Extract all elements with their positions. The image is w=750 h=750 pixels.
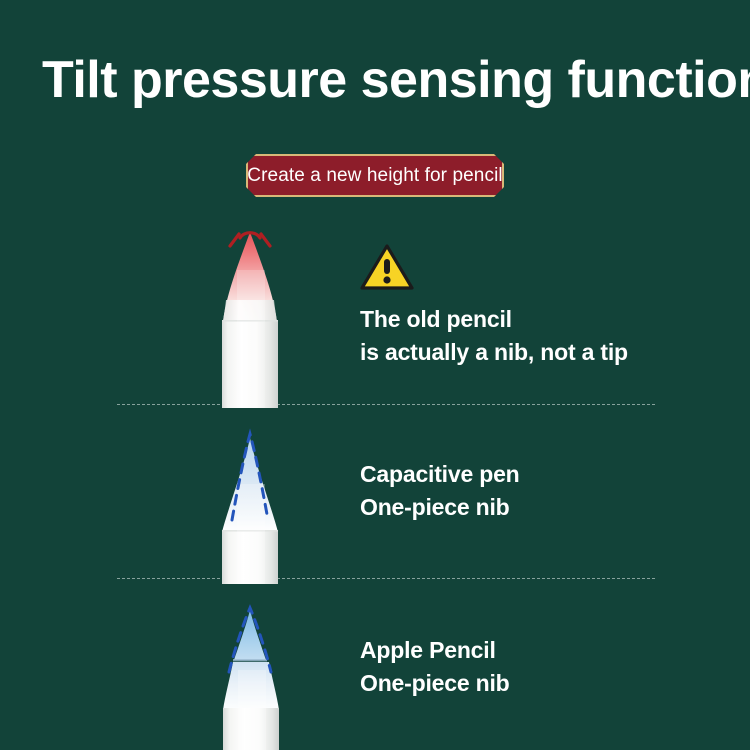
infographic-canvas: Tilt pressure sensing function Create a …	[0, 0, 750, 750]
info-line-1: The old pencil	[360, 303, 710, 336]
info-block-apple-pencil: Apple Pencil One-piece nib	[360, 634, 710, 699]
subtitle-badge	[246, 154, 504, 197]
apple-pencil-illustration	[196, 600, 306, 750]
info-block-capacitive-pen: Capacitive pen One-piece nib	[360, 458, 710, 523]
info-line-2: One-piece nib	[360, 667, 710, 700]
page-title: Tilt pressure sensing function	[42, 52, 722, 108]
old-pencil-illustration	[196, 222, 306, 408]
info-line-1: Capacitive pen	[360, 458, 710, 491]
info-line-2: is actually a nib, not a tip	[360, 336, 710, 369]
capacitive-pen-svg	[196, 424, 306, 584]
pen-body-highlight	[237, 484, 265, 584]
capacitive-pen-illustration	[196, 424, 306, 584]
info-block-old-pencil: The old pencil is actually a nib, not a …	[360, 243, 710, 368]
info-line-2: One-piece nib	[360, 491, 710, 524]
old-pencil-svg	[196, 222, 306, 408]
apple-pencil-svg	[196, 600, 306, 750]
warning-triangle-icon	[360, 243, 414, 291]
pen-body-highlight	[237, 270, 265, 408]
info-line-1: Apple Pencil	[360, 634, 710, 667]
pen-body-highlight	[238, 670, 266, 750]
pen-nib-seam	[233, 659, 267, 661]
